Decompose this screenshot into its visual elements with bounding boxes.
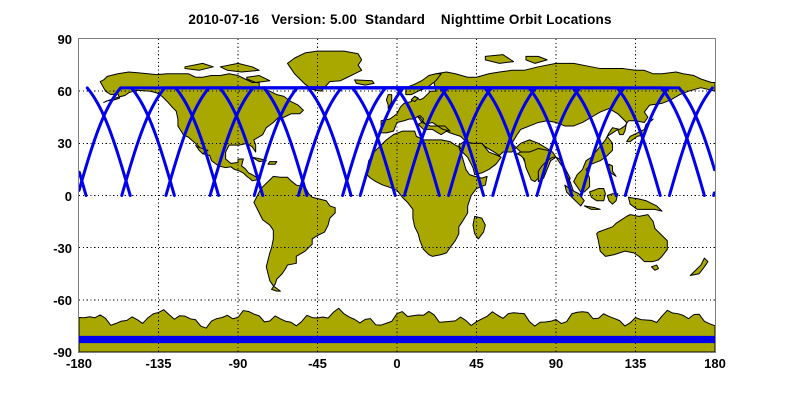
chart-title: 2010-07-16 Version: 5.00 Standard Nightt… [0, 12, 800, 27]
x-tick-0: 0 [362, 357, 432, 370]
y-tick-0: 0 [4, 190, 72, 203]
y-tick--60: -60 [4, 294, 72, 307]
x-tick--180: -180 [44, 357, 114, 370]
map-plot-area [78, 38, 716, 353]
x-tick-180: 180 [680, 357, 750, 370]
y-tick-30: 30 [4, 137, 72, 150]
x-tick-135: 135 [601, 357, 671, 370]
x-tick--45: -45 [283, 357, 353, 370]
world-map-with-orbit-tracks [79, 39, 715, 352]
y-tick-60: 60 [4, 85, 72, 98]
y-tick--30: -30 [4, 242, 72, 255]
y-tick-90: 90 [4, 33, 72, 46]
x-tick-90: 90 [521, 357, 591, 370]
x-tick-45: 45 [442, 357, 512, 370]
x-tick--90: -90 [203, 357, 273, 370]
figure-root: 2010-07-16 Version: 5.00 Standard Nightt… [0, 0, 800, 400]
x-tick--135: -135 [124, 357, 194, 370]
map-canvas [79, 39, 715, 352]
